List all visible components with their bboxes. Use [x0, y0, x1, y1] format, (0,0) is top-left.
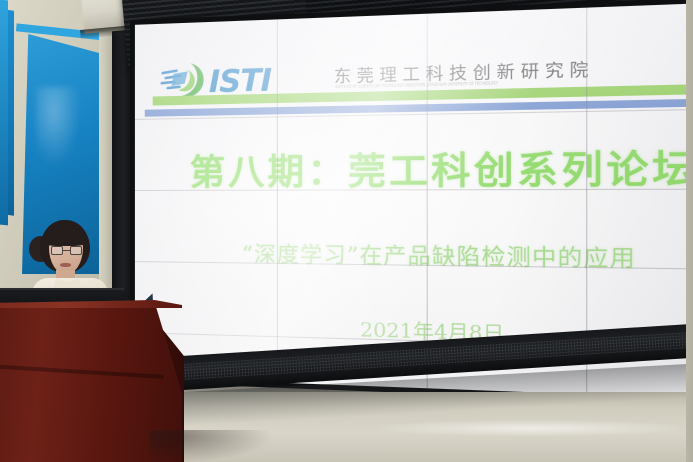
lens-right	[70, 246, 82, 255]
right-wall-edge	[686, 0, 693, 462]
mouth	[60, 263, 71, 267]
floor-specular-highlight	[380, 420, 680, 436]
slide-title: 第八期：莞工科创系列论坛	[163, 138, 693, 196]
photo-scene: ISTI 东莞理工科技创新研究院 INSTITUTE OF SCIENCE AN…	[0, 0, 693, 462]
blue-edge-strip	[0, 0, 8, 225]
panel-seam-vertical	[427, 14, 428, 389]
panel-seam-vertical	[277, 19, 278, 382]
glasses-bridge	[63, 250, 70, 251]
lens-left	[51, 246, 63, 255]
lectern-floor-shadow	[150, 430, 270, 462]
eyeglasses-icon	[51, 246, 82, 255]
slide-subtitle: “深度学习”在产品缺陷检测中的应用	[163, 237, 693, 275]
